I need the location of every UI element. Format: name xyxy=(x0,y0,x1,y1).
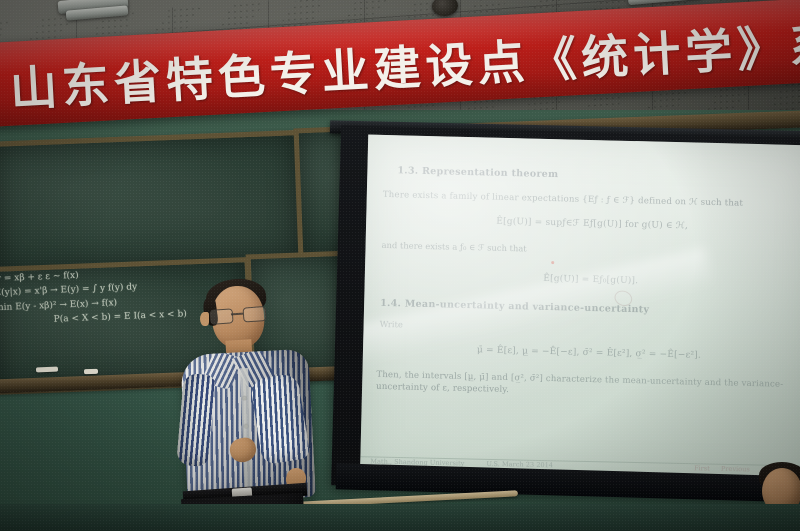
chalk-stick-icon xyxy=(84,369,98,374)
glasses-bridge xyxy=(231,313,243,315)
slide-equation: Ê[g(U)] = supƒ∈ℱ Eƒ[g(U)] for g(U) ∈ ℋ, xyxy=(380,214,800,234)
floor xyxy=(0,504,800,531)
slide-equation: Ê[g(U)] = Eƒ₀[g(U)]. xyxy=(379,270,800,290)
projection-screen: 1.3. Representation theorem There exists… xyxy=(360,135,800,490)
slide-nav-first[interactable]: First xyxy=(694,464,710,472)
slide-text-line: Write xyxy=(380,319,800,339)
chalk-dust xyxy=(0,135,299,270)
laser-pointer-dot-icon xyxy=(551,261,554,264)
eyeglasses-icon xyxy=(210,306,265,323)
slide-paragraph: Then, the intervals [μ̲, μ̄] and [σ̲², σ… xyxy=(376,369,800,404)
speaker-presenter xyxy=(180,272,350,531)
lens-left xyxy=(210,308,234,325)
presentation-slide: 1.3. Representation theorem There exists… xyxy=(360,135,800,490)
slide-text-line: There exists a family of linear expectat… xyxy=(383,190,800,210)
lecture-hall-photo: y = xβ + ε ε ~ f(x) E(y|x) = x'β → E(y) … xyxy=(0,0,800,531)
slide-section-heading: 1.3. Representation theorem xyxy=(397,165,800,186)
lens-right xyxy=(243,306,267,323)
slide-nav-previous[interactable]: Previous xyxy=(721,465,750,474)
slide-section-heading: 1.4. Mean-uncertainty and variance-uncer… xyxy=(380,298,800,319)
slide-text-line: and there exists a ƒ₀ ∈ ℱ such that xyxy=(381,240,800,260)
ear xyxy=(200,312,209,326)
slide-equation: μ̄ = Ê[ε], μ̲ = −Ê[−ε], σ̄² = Ê[ε²], σ̲²… xyxy=(377,343,800,363)
chalk-stick-icon xyxy=(36,367,58,373)
